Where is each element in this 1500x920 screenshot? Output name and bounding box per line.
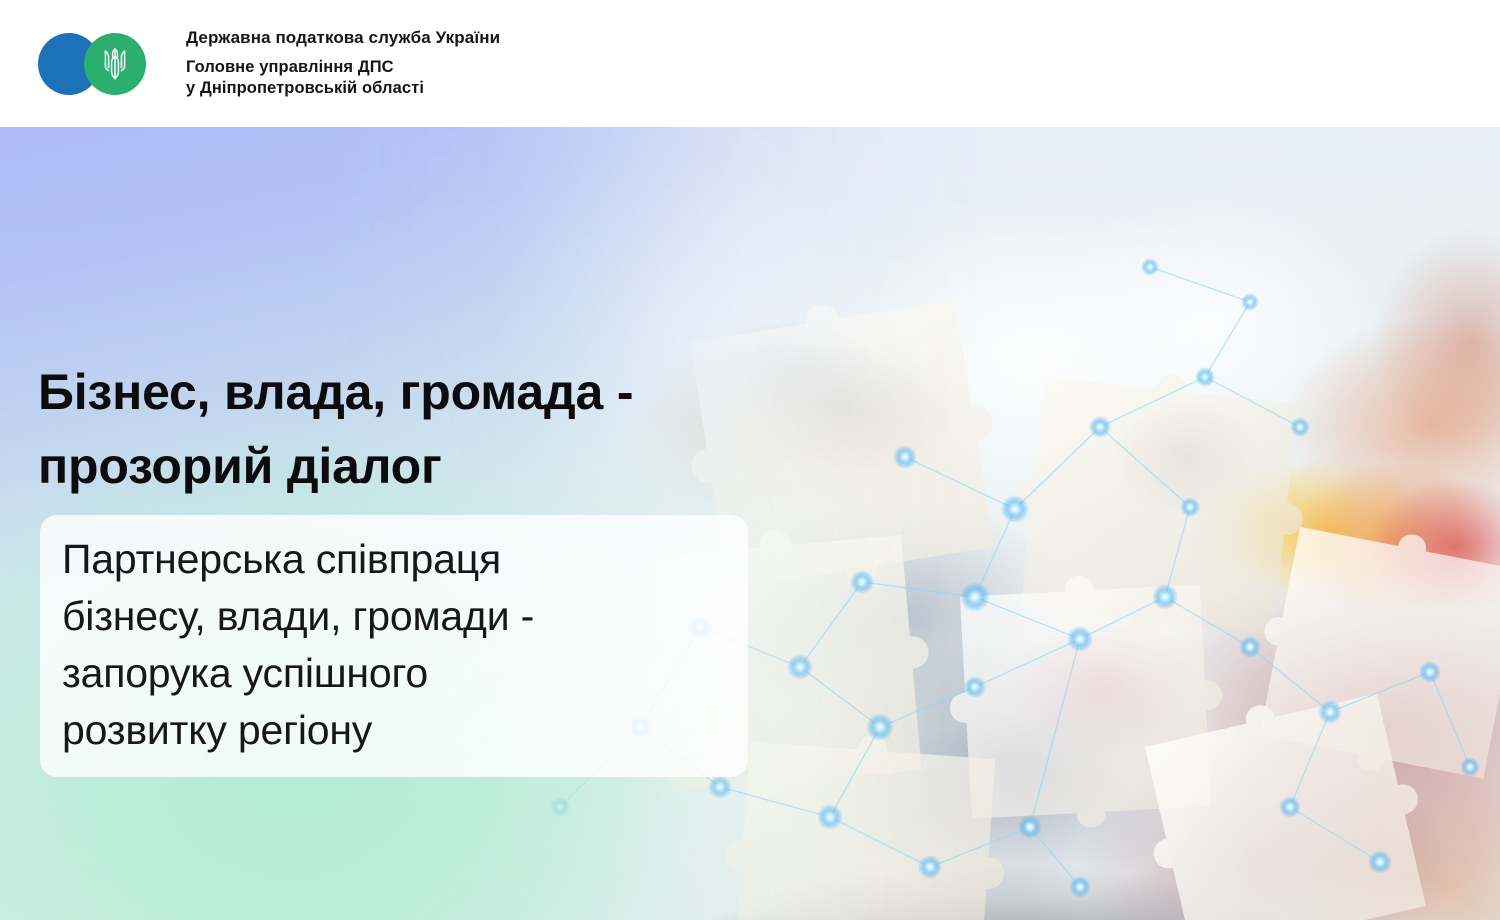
hero-headline: Бізнес, влада, громада - прозорий діалог [38, 355, 778, 503]
hero-subtitle-line-1: Партнерська співпраця [62, 531, 722, 588]
hero-headline-line-2: прозорий діалог [38, 429, 778, 503]
hero-subtitle-text: Партнерська співпраця бізнесу, влади, гр… [62, 531, 722, 759]
trident-emblem-icon [84, 33, 146, 95]
hero-subtitle-line-2: бізнесу, влади, громади - [62, 588, 722, 645]
hero-subtitle-card: Партнерська співпраця бізнесу, влади, гр… [40, 515, 748, 777]
hero-subtitle-line-4: розвитку регіону [62, 702, 722, 759]
org-name-regional-line-1: Головне управління ДПС [186, 57, 500, 78]
logo-lockup [38, 33, 166, 95]
hero-copy-block: Бізнес, влада, громада - прозорий діалог… [0, 127, 800, 920]
org-name-national: Державна податкова служба України [186, 28, 500, 48]
org-name-regional-line-2: у Дніпропетровській області [186, 78, 500, 99]
brand-text-block: Державна податкова служба України Головн… [186, 28, 500, 99]
hero-banner: Бізнес, влада, громада - прозорий діалог… [0, 127, 1500, 920]
hero-headline-line-1: Бізнес, влада, громада - [38, 355, 778, 429]
hero-subtitle-line-3: запорука успішного [62, 645, 722, 702]
trident-glyph [100, 45, 130, 83]
brand-header: Державна податкова служба України Головн… [0, 0, 1500, 127]
slide-root: Державна податкова служба України Головн… [0, 0, 1500, 920]
